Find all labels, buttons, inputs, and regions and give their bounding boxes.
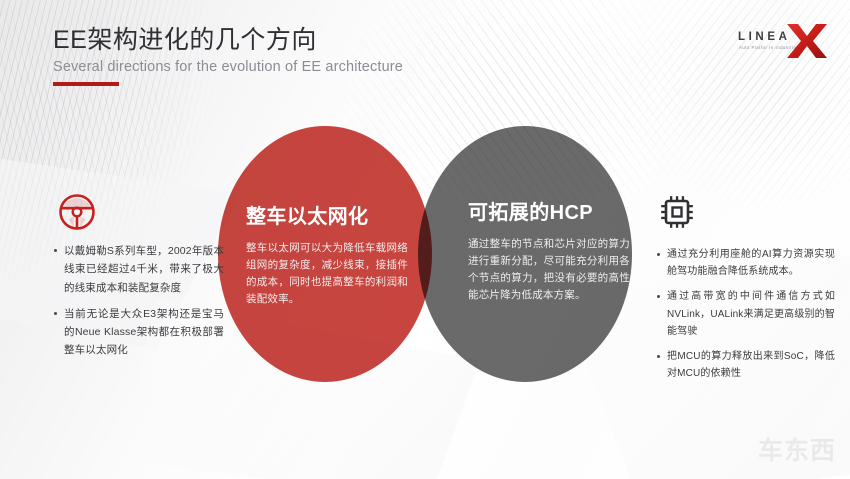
list-item: 通过高带宽的中间件通信方式如NVLink，UALink来满足更高级别的智能驾驶 xyxy=(655,288,835,340)
chip-icon xyxy=(657,192,697,232)
venn-right-content: 可拓展的HCP 通过整车的节点和芯片对应的算力进行重新分配，尽可能充分利用各个节… xyxy=(468,196,630,304)
steering-wheel-icon xyxy=(57,192,97,232)
right-bullet-list: 通过充分利用座舱的AI算力资源实现舱驾功能融合降低系统成本。 通过高带宽的中间件… xyxy=(655,246,835,382)
venn-left-text: 整车以太网可以大为降低车载网络组网的复杂度，减少线束，接插件的成本，同时也提高整… xyxy=(246,240,408,308)
left-bullet-list: 以戴姆勒S系列车型，2002年版本线束已经超过4千米，带来了极大的线束成本和装配… xyxy=(52,242,224,360)
venn-diagram xyxy=(0,0,850,479)
list-item: 通过充分利用座舱的AI算力资源实现舱驾功能融合降低系统成本。 xyxy=(655,246,835,280)
list-item: 把MCU的算力释放出来到SoC，降低对MCU的依赖性 xyxy=(655,348,835,382)
list-item: 当前无论是大众E3架构还是宝马的Neue Klasse架构都在积极部署整车以太网… xyxy=(52,305,224,360)
venn-right-title: 可拓展的HCP xyxy=(468,196,630,225)
list-item: 以戴姆勒S系列车型，2002年版本线束已经超过4千米，带来了极大的线束成本和装配… xyxy=(52,242,224,297)
watermark: 车东西 xyxy=(758,431,836,467)
venn-left-title: 整车以太网化 xyxy=(246,200,408,229)
venn-left-content: 整车以太网化 整车以太网可以大为降低车载网络组网的复杂度，减少线束，接插件的成本… xyxy=(246,200,408,308)
slide-canvas: EE架构进化的几个方向 Several directions for the e… xyxy=(0,0,850,479)
venn-right-text: 通过整车的节点和芯片对应的算力进行重新分配，尽可能充分利用各个节点的算力，把没有… xyxy=(468,236,630,304)
